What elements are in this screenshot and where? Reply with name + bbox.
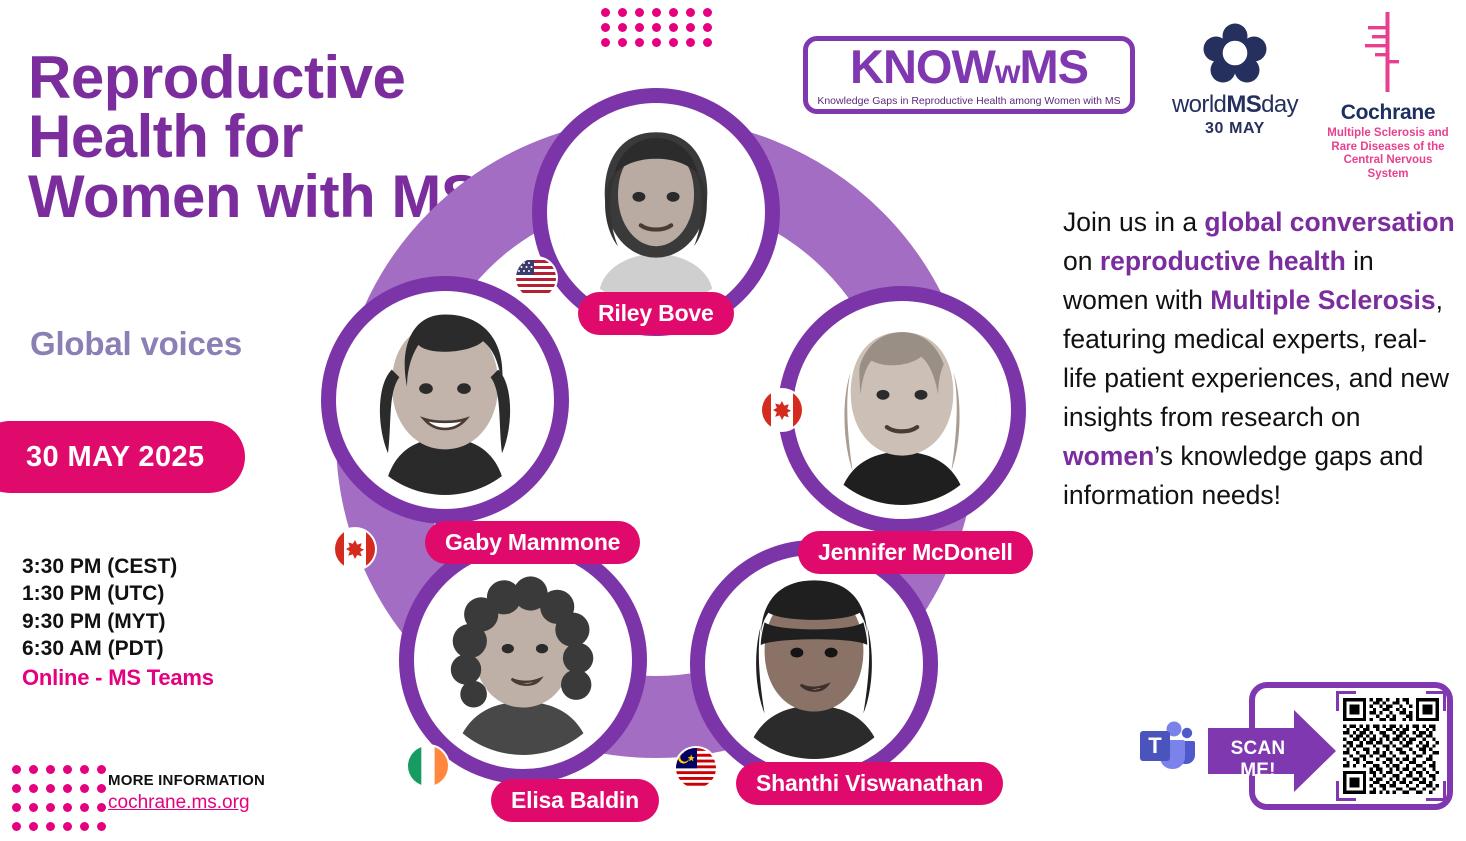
date-badge: 30 MAY 2025 (0, 421, 245, 493)
flag-malaysia-icon (676, 748, 716, 788)
world-ms-day-wordmark: worldMSday (1165, 91, 1305, 119)
dot (29, 822, 38, 831)
dot (46, 784, 55, 793)
dot (601, 23, 610, 32)
speaker-card-elisa-baldin[interactable]: Elisa Baldin (399, 536, 647, 784)
time-line: 3:30 PM (CEST) (22, 553, 177, 580)
dot (618, 38, 627, 47)
speaker-photo (719, 569, 909, 759)
cochrane-subtitle-line: Multiple Sclerosis and (1322, 127, 1454, 141)
qr-corner-bracket (1426, 781, 1446, 801)
wmsd-word-1: world (1172, 91, 1226, 118)
dot (29, 765, 38, 774)
dot (652, 8, 661, 17)
speaker-name-chip: Gaby Mammone (425, 521, 640, 564)
dot (669, 38, 678, 47)
cochrane-name: Cochrane (1322, 101, 1454, 125)
qr-corner-bracket (1336, 691, 1356, 711)
website-link[interactable]: cochrane.ms.org (108, 792, 265, 814)
dot (12, 765, 21, 774)
speaker-card-shanthi-viswanathan[interactable]: Shanthi Viswanathan (690, 540, 938, 788)
speaker-wheel: Riley Bove (306, 88, 1006, 788)
dot (97, 765, 106, 774)
dot (669, 23, 678, 32)
time-line: 6:30 AM (PDT) (22, 635, 177, 662)
flag-united-states-icon (516, 258, 556, 298)
speaker-photo (428, 565, 618, 755)
dot (80, 765, 89, 774)
dot (635, 23, 644, 32)
dot (46, 803, 55, 812)
speaker-name-chip: Riley Bove (578, 292, 734, 335)
speaker-name-chip: Jennifer McDonell (798, 531, 1033, 574)
dot (80, 803, 89, 812)
dot (618, 23, 627, 32)
dot (63, 803, 72, 812)
dot (63, 784, 72, 793)
dot (652, 23, 661, 32)
blurb-highlight: global conversation (1204, 207, 1454, 237)
dot (97, 784, 106, 793)
world-ms-day-flower-icon (1165, 18, 1305, 84)
dot (601, 8, 610, 17)
dot (601, 38, 610, 47)
dot (686, 8, 695, 17)
speaker-photo (561, 117, 751, 307)
microsoft-teams-icon: T (1137, 716, 1195, 774)
knowwms-part-2: MS (1019, 40, 1088, 93)
platform-label: Online - MS Teams (22, 665, 214, 691)
dot (46, 822, 55, 831)
speaker-card-riley-bove[interactable]: Riley Bove (532, 88, 780, 336)
dot (12, 822, 21, 831)
scan-arrow: SCAN ME! (1208, 710, 1336, 792)
cochrane-logo: Cochrane Multiple Sclerosis and Rare Dis… (1322, 10, 1454, 181)
flag-canada-icon (762, 390, 802, 430)
knowwms-logo: KNOWwMS Knowledge Gaps in Reproductive H… (803, 36, 1135, 114)
world-ms-day-date: 30 MAY (1165, 120, 1305, 138)
portrait-ring (321, 276, 569, 524)
cochrane-subtitle-line: Rare Diseases of the (1322, 141, 1454, 155)
dot-pattern-top (601, 8, 720, 53)
wmsd-word-2: MS (1226, 91, 1261, 118)
portrait-ring (778, 286, 1026, 534)
dot-pattern-bottom-left (12, 765, 114, 841)
dot (97, 822, 106, 831)
more-information-block: MORE INFORMATION cochrane.ms.org (108, 772, 265, 814)
more-information-label: MORE INFORMATION (108, 772, 265, 789)
speaker-card-jennifer-mcdonell[interactable]: Jennifer McDonell (778, 286, 1026, 534)
dot (12, 803, 21, 812)
dot (29, 784, 38, 793)
dot (29, 803, 38, 812)
speaker-name-chip: Shanthi Viswanathan (736, 762, 1003, 805)
knowwms-logo-wordmark: KNOWwMS (850, 43, 1088, 90)
blurb-highlight: women (1063, 441, 1154, 471)
date-badge-label: 30 MAY 2025 (26, 441, 205, 474)
dot (80, 784, 89, 793)
time-line: 9:30 PM (MYT) (22, 608, 177, 635)
flag-ireland-icon (408, 746, 448, 786)
qr-corner-bracket (1426, 691, 1446, 711)
wmsd-word-3: day (1261, 91, 1298, 118)
dot (686, 38, 695, 47)
scan-me-label: SCAN ME! (1216, 738, 1300, 782)
dot (12, 784, 21, 793)
speaker-photo (807, 315, 997, 505)
world-ms-day-logo: worldMSday 30 MAY (1165, 18, 1305, 138)
qr-corner-bracket (1336, 781, 1356, 801)
dot (635, 38, 644, 47)
dot (63, 765, 72, 774)
knowwms-logo-tagline: Knowledge Gaps in Reproductive Health am… (817, 95, 1120, 107)
blurb-text: on (1063, 246, 1100, 276)
timezone-list: 3:30 PM (CEST) 1:30 PM (UTC) 9:30 PM (MY… (22, 553, 177, 662)
blurb-text: Join us in a (1063, 207, 1204, 237)
page-subtitle: Global voices (30, 325, 242, 363)
cochrane-subtitle-line: Central Nervous System (1322, 154, 1454, 181)
qr-code[interactable] (1343, 698, 1439, 794)
dot (46, 765, 55, 774)
knowwms-part-1: KNOW (850, 40, 995, 93)
knowwms-part-w: w (995, 53, 1020, 90)
cochrane-subtitle: Multiple Sclerosis and Rare Diseases of … (1322, 127, 1454, 181)
speaker-photo (350, 305, 540, 495)
blurb-highlight: Multiple Sclerosis (1210, 285, 1435, 315)
flag-canada-icon (335, 529, 375, 569)
scan-me-block[interactable]: SCAN ME! (1249, 682, 1453, 810)
time-line: 1:30 PM (UTC) (22, 580, 177, 607)
dot (703, 23, 712, 32)
dot (703, 8, 712, 17)
dot (80, 822, 89, 831)
dot (686, 23, 695, 32)
dot (63, 822, 72, 831)
dot (635, 8, 644, 17)
cochrane-mark-icon (1322, 10, 1454, 94)
dot (652, 38, 661, 47)
dot (618, 8, 627, 17)
description-paragraph: Join us in a global conversation on repr… (1063, 203, 1455, 515)
dot (703, 38, 712, 47)
dot (97, 803, 106, 812)
poster-canvas: Reproductive Health for Women with MS Gl… (0, 0, 1466, 824)
blurb-highlight: reproductive health (1100, 246, 1346, 276)
speaker-card-gaby-mammone[interactable]: Gaby Mammone (321, 276, 569, 524)
svg-text:T: T (1148, 733, 1162, 758)
portrait-ring (690, 540, 938, 788)
dot (669, 8, 678, 17)
speaker-name-chip: Elisa Baldin (491, 779, 659, 822)
